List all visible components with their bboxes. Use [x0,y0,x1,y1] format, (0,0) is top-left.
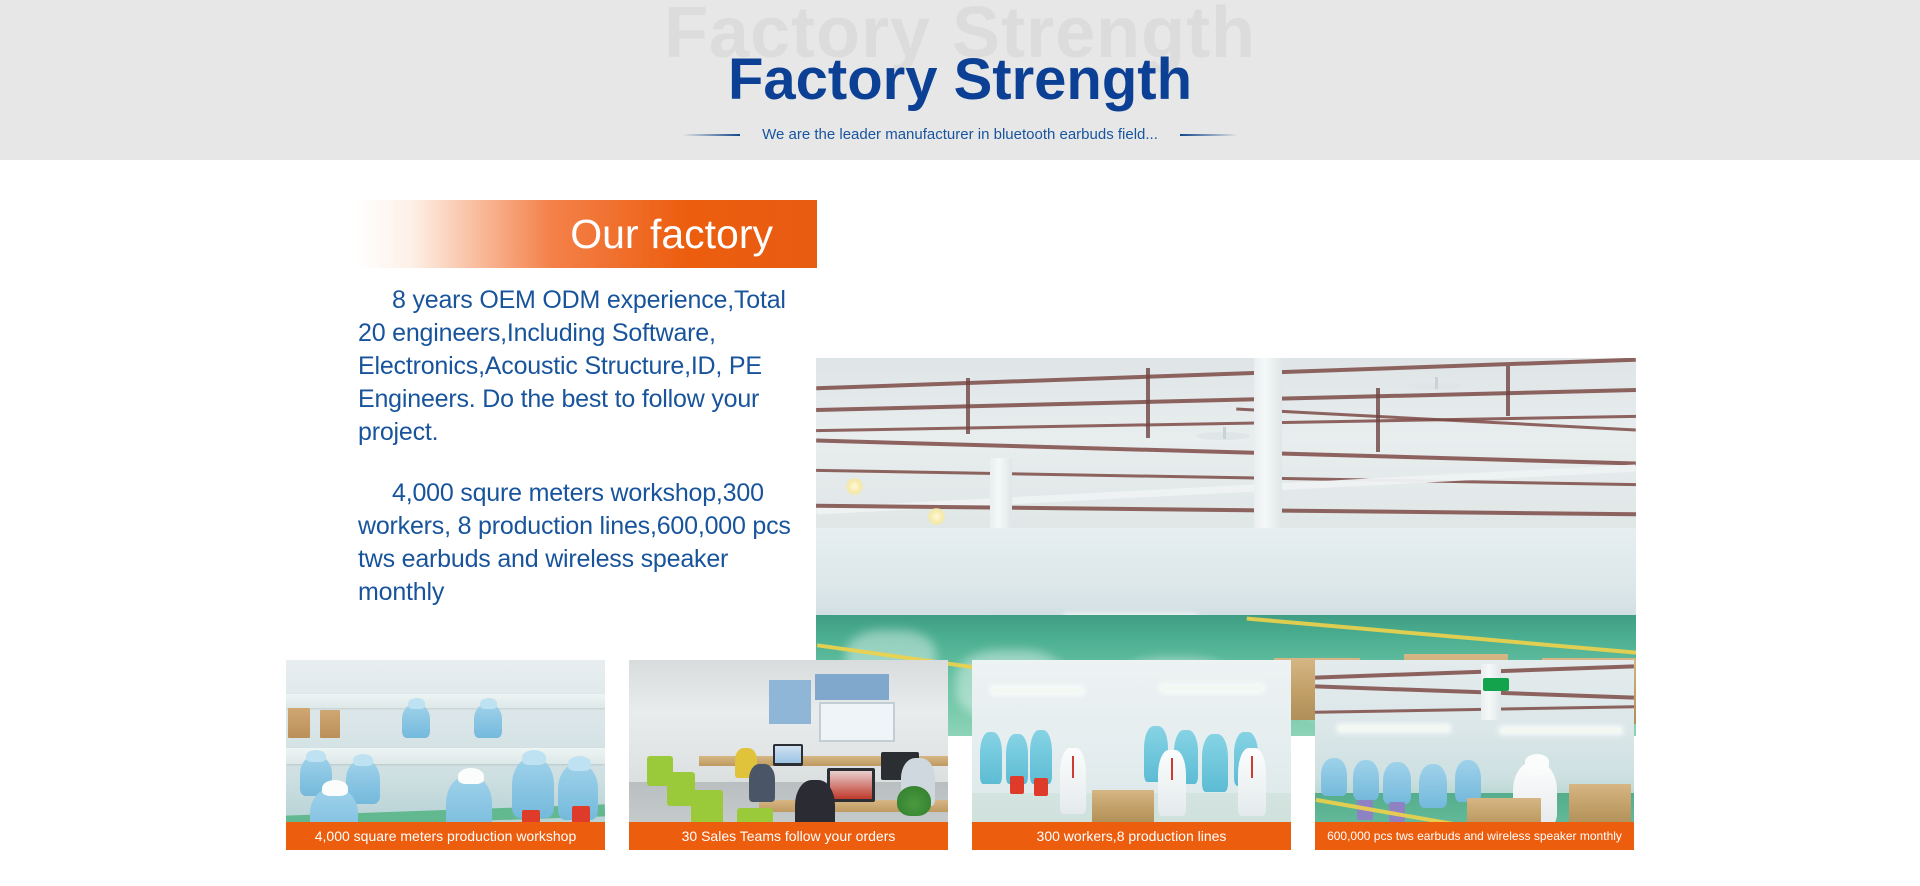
thumbnail-sales-office[interactable]: 30 Sales Teams follow your orders [629,660,948,850]
lanyard [1251,756,1253,778]
page-header: Factory Strength Factory Strength We are… [0,0,1920,160]
ceiling-fan [1408,382,1462,390]
factory-intro-section: Our factory 8 years OEM ODM experience,T… [0,160,1920,600]
worker-figure [1353,760,1379,800]
thumbnail-production-lines[interactable]: 600,000 pcs tws earbuds and wireless spe… [1315,660,1634,850]
lanyard [1072,756,1074,778]
worker-figure [1321,758,1347,796]
workbench-desk [1569,784,1631,826]
office-window [819,702,895,742]
factory-paragraph-2: 4,000 squre meters workshop,300 workers,… [358,477,810,609]
thumbnail-caption: 300 workers,8 production lines [972,822,1291,850]
worker-figure [1419,764,1447,808]
office-plant [897,786,931,816]
thumbnail-caption: 600,000 pcs tws earbuds and wireless spe… [1315,822,1634,850]
worker-figure [402,704,430,738]
worker-figure [474,704,502,738]
worker-cap [568,756,591,771]
factory-paragraph-1: 8 years OEM ODM experience,Total 20 engi… [358,284,810,449]
ceiling-lamp [928,508,945,525]
worker-figure [1455,760,1481,802]
worker-cap [480,698,497,709]
office-worker [749,764,775,802]
wall-panel [769,680,811,724]
worker-cap [458,768,484,784]
window-blind [815,674,889,700]
factory-text-column: Our factory 8 years OEM ODM experience,T… [358,200,818,609]
conveyor-shelf [286,694,605,708]
worker-cap [522,750,546,765]
exit-sign-icon [1483,678,1509,691]
worker-cap [306,750,326,762]
thumbnail-caption: 30 Sales Teams follow your orders [629,822,948,850]
worker-figure [1030,730,1052,784]
stool [1034,778,1048,796]
worker-figure [1383,762,1411,804]
vertical-pipe [1506,366,1510,416]
our-factory-banner: Our factory [357,200,817,268]
subtitle-row: We are the leader manufacturer in blueto… [0,126,1920,143]
vertical-pipe [966,378,970,434]
workbench-desk [1092,790,1154,824]
ceiling-lamp [846,478,863,495]
subtitle-divider-left [682,134,740,136]
monitor-screen [830,771,872,799]
cardboard-box [320,710,340,738]
our-factory-banner-label: Our factory [570,211,773,258]
shelf-rail [972,718,1291,726]
lanyard [1171,758,1173,780]
hero-bench-band [816,528,1636,626]
worker-cap [322,780,348,796]
page-subtitle: We are the leader manufacturer in blueto… [762,126,1158,143]
thumbnail-caption: 4,000 square meters production workshop [286,822,605,850]
light-tube [1162,686,1262,691]
worker-figure [512,758,554,818]
thumbnail-workers-lineup[interactable]: 300 workers,8 production lines [972,660,1291,850]
conveyor-shelf [286,748,605,764]
page-title: Factory Strength [0,46,1920,113]
worker-figure [1202,734,1228,792]
light-tube [1339,726,1449,731]
factory-description: 8 years OEM ODM experience,Total 20 engi… [358,284,810,609]
worker-cap [408,698,425,709]
ceiling-fan [1196,432,1250,440]
factory-thumbnail-row: 4,000 square meters production workshop … [286,660,1634,850]
worker-cap [353,754,373,766]
support-column [1481,664,1501,720]
cardboard-box [288,708,310,738]
vertical-pipe [1146,368,1150,438]
vertical-pipe [1376,388,1380,452]
subtitle-divider-right [1180,134,1238,136]
thumbnail-workshop[interactable]: 4,000 square meters production workshop [286,660,605,850]
light-tube [1501,728,1621,733]
worker-cap [1525,754,1549,769]
stool [1010,776,1024,794]
light-tube [992,688,1082,693]
monitor-screen [775,746,801,763]
worker-figure [980,732,1002,784]
